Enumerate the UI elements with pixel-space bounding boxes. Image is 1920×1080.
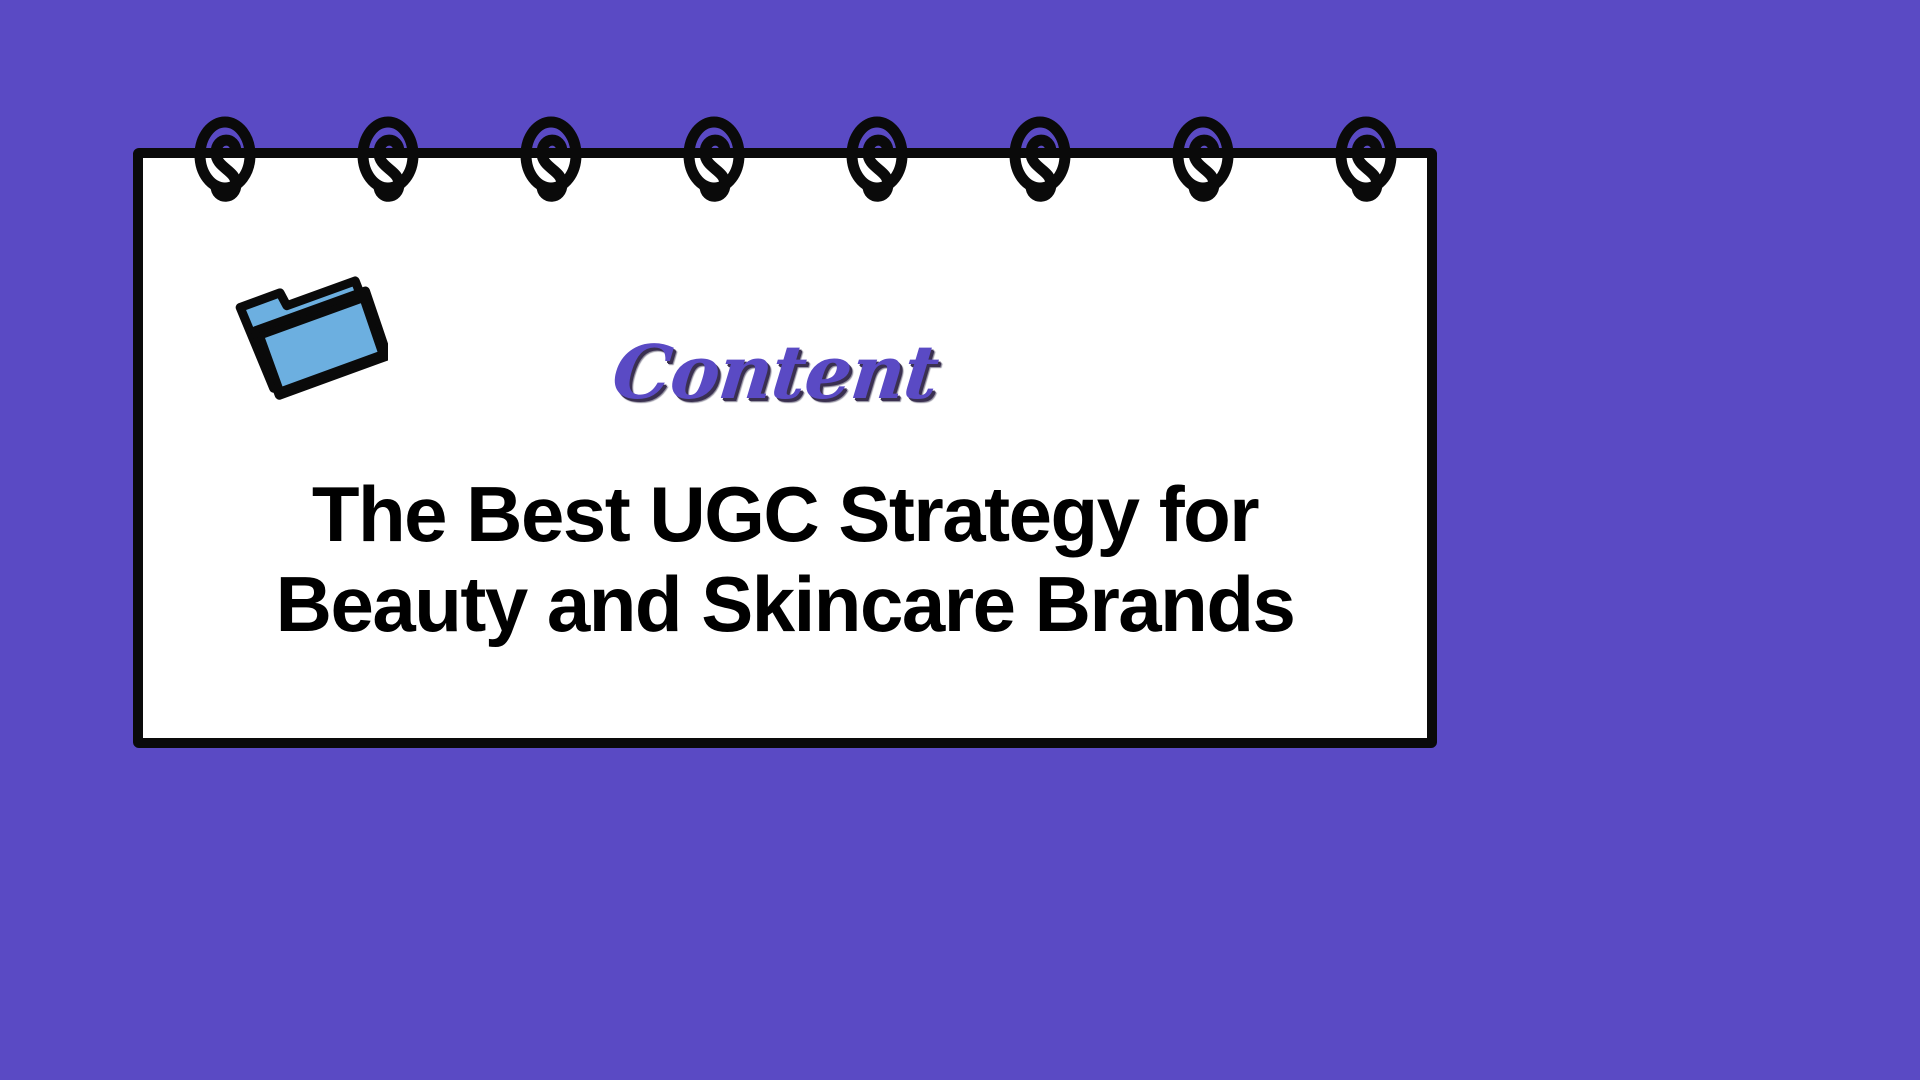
folder-icon-graphic bbox=[228, 268, 388, 403]
slide-canvas: Content The Best UGC Strategy for Beauty… bbox=[0, 0, 1920, 1080]
headline-line-1: The Best UGC Strategy for bbox=[133, 470, 1437, 560]
page-title: The Best UGC Strategy for Beauty and Ski… bbox=[133, 470, 1437, 649]
headline-line-2: Beauty and Skincare Brands bbox=[133, 560, 1437, 650]
folder-icon bbox=[228, 268, 388, 403]
notebook-card bbox=[133, 148, 1437, 748]
